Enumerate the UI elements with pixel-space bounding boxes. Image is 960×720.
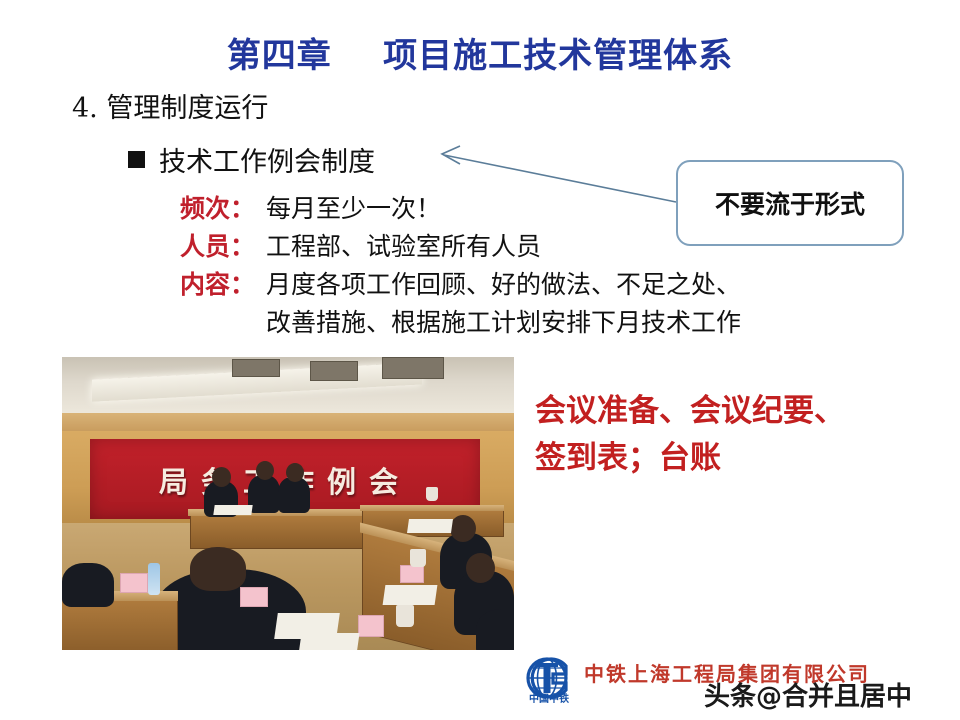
photo-person-head (212, 467, 231, 487)
photo-person-head (466, 553, 495, 583)
detail-key: 内容： (180, 266, 266, 304)
photo-paper (383, 585, 438, 605)
bullet-item-label: 技术工作例会制度 (159, 140, 375, 179)
photo-ceiling-vent (232, 359, 280, 377)
photo-person-head (190, 547, 246, 591)
photo-name-card (120, 573, 148, 593)
right-note-line-1: 会议准备、会议纪要、 (535, 388, 845, 435)
photo-person (248, 475, 280, 513)
callout-text: 不要流于形式 (715, 185, 865, 221)
photo-ceiling-vent (310, 361, 358, 381)
detail-row: 频次： 每月至少一次！ (180, 190, 741, 228)
photo-cup (426, 487, 438, 501)
detail-value-continued: 改善措施、根据施工计划安排下月技术工作 (266, 304, 741, 342)
photo-paper (213, 505, 252, 515)
detail-key: 频次： (180, 190, 266, 228)
bullet-item: 技术工作例会制度 (128, 140, 375, 179)
detail-value: 每月至少一次！ (266, 190, 441, 228)
right-note-line-2: 签到表；台账 (535, 435, 845, 482)
detail-list: 频次： 每月至少一次！ 人员： 工程部、试验室所有人员 内容： 月度各项工作回顾… (180, 190, 741, 342)
photo-person-head (256, 461, 274, 480)
photo-paper (298, 633, 359, 650)
photo-table (190, 513, 378, 549)
photo-person (278, 477, 310, 513)
detail-value: 工程部、试验室所有人员 (266, 228, 541, 266)
photo-name-card (240, 587, 268, 607)
photo-person (62, 563, 114, 607)
photo-water-bottle (148, 563, 160, 595)
photo-name-card (358, 615, 384, 637)
photo-person-head (450, 515, 476, 542)
meeting-photo: 局务工作例会 (62, 357, 514, 650)
photo-cup (396, 605, 414, 627)
detail-value: 月度各项工作回顾、好的做法、不足之处、 (266, 266, 741, 304)
photo-name-card (400, 565, 424, 583)
photo-wall-band (62, 413, 514, 433)
photo-table-top (360, 505, 504, 511)
photo-paper (407, 519, 453, 533)
watermark: 头条@合并且居中 (704, 676, 912, 713)
page-title: 第四章 项目施工技术管理体系 (0, 28, 960, 77)
photo-ceiling-vent (382, 357, 444, 379)
detail-key: 人员： (180, 228, 266, 266)
detail-row: 内容： 月度各项工作回顾、好的做法、不足之处、 (180, 266, 741, 304)
right-note: 会议准备、会议纪要、 签到表；台账 (535, 388, 845, 482)
photo-cup (410, 549, 426, 567)
photo-person-head (286, 463, 304, 482)
photo-person (476, 609, 514, 650)
presentation-slide: 第四章 项目施工技术管理体系 4. 管理制度运行 技术工作例会制度 频次： 每月… (0, 0, 960, 720)
callout-box: 不要流于形式 (676, 160, 904, 246)
section-heading: 4. 管理制度运行 (72, 86, 268, 125)
detail-row: 人员： 工程部、试验室所有人员 (180, 228, 741, 266)
square-bullet-icon (128, 151, 145, 168)
logo-caption: 中国中铁 (516, 690, 582, 705)
